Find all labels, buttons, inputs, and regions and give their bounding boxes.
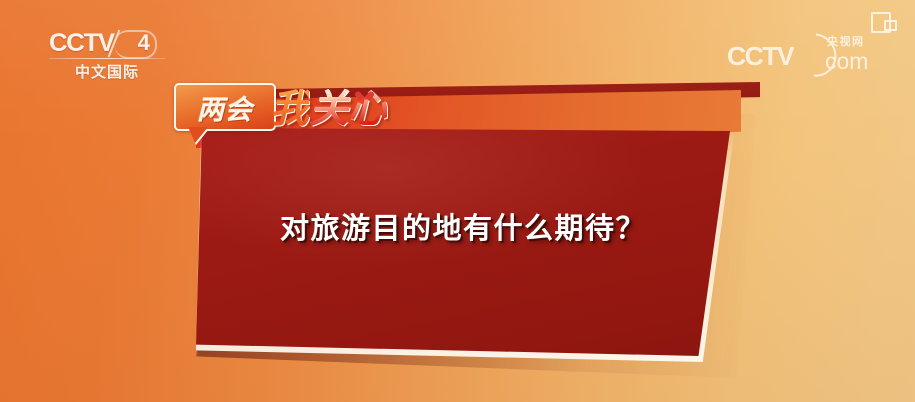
broadcast-frame: CCTV 4 中文国际 CCTV 央视网 com [0,0,915,402]
program-title-hero-part2: 关心 [309,78,387,134]
program-title-lockup: 两会 我 关心 [174,83,399,145]
program-title-bubble-text: 两会 [176,85,274,129]
program-title-hero-part1: 我 [270,78,309,134]
channel-badge-ring [115,30,157,59]
heart-icon [359,90,370,100]
cctv4-channel-logo: CCTV 4 中文国际 [49,29,165,83]
watermark-site-tld: com [825,48,868,74]
cctv-wordmark: CCTV [49,30,114,56]
channel-number: 4 [138,30,150,55]
speech-bubble-tail-icon [188,127,208,143]
question-headline: 对旅游目的地有什么期待？ [196,205,730,247]
channel-logo-row: CCTV 4 [49,29,165,57]
cctv-com-watermark: CCTV 央视网 com [727,36,887,78]
watermark-cctv-wordmark: CCTV [727,42,793,70]
pip-inner-frame-icon [884,20,897,31]
program-title-hero: 我 关心 [270,81,387,131]
program-title-bubble: 两会 [174,83,276,131]
channel-number-badge: 4 [115,30,159,57]
channel-subtitle: 中文国际 [49,61,165,82]
picture-in-picture-icon[interactable] [871,12,897,32]
